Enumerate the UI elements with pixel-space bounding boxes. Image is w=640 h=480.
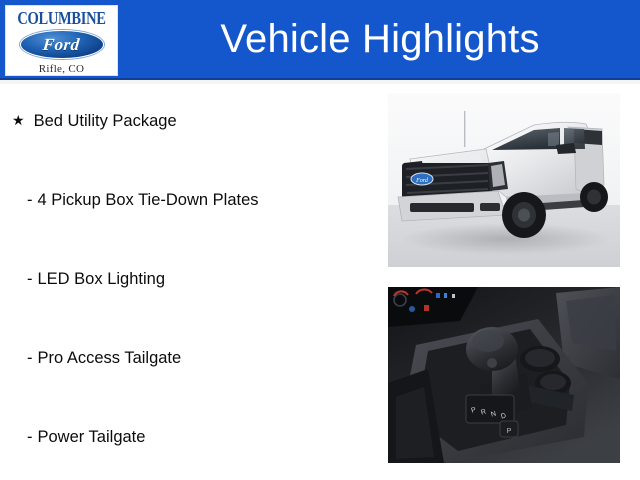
page-title: Vehicle Highlights [130,0,630,78]
vehicle-highlights-list: ★Bed Utility Package-4 Pickup Box Tie-Do… [0,84,380,480]
svg-text:Ford: Ford [415,178,429,184]
ford-wordmark: Ford [42,36,80,53]
highlight-item: -LED Box Lighting [27,270,165,289]
highlight-item: -Pro Access Tailgate [27,349,181,368]
vehicle-exterior-illustration: Ford [388,93,620,267]
dash-bullet-icon: - [27,270,33,289]
dash-bullet-icon: - [27,428,33,447]
highlight-item-label: LED Box Lighting [38,270,166,289]
highlight-item-label: Bed Utility Package [34,112,177,131]
dash-bullet-icon: - [27,349,33,368]
dealer-location-text: Rifle, CO [39,63,84,75]
dealer-name-text: COLUMBINE [17,10,105,29]
highlight-item: -4 Pickup Box Tie-Down Plates [27,191,259,210]
dealer-logo: COLUMBINE Ford Rifle, CO [5,5,118,76]
highlight-item: -Power Tailgate [27,428,145,447]
highlight-item-label: Pro Access Tailgate [38,349,182,368]
highlight-item-label: Power Tailgate [38,428,146,447]
highlight-item-label: 4 Pickup Box Tie-Down Plates [38,191,259,210]
vehicle-interior-console-photo: P R N D P Dark interior center console w… [388,287,620,463]
vehicle-exterior-photo: Ford White Ford F-150 pickup truck, fron… [388,93,620,267]
vehicle-interior-illustration: P R N D P [388,287,620,463]
dash-bullet-icon: - [27,191,33,210]
svg-text:P: P [507,428,512,435]
star-bullet-icon: ★ [12,113,25,127]
highlight-item: ★Bed Utility Package [12,112,177,131]
ford-oval-logo: Ford [20,30,104,59]
